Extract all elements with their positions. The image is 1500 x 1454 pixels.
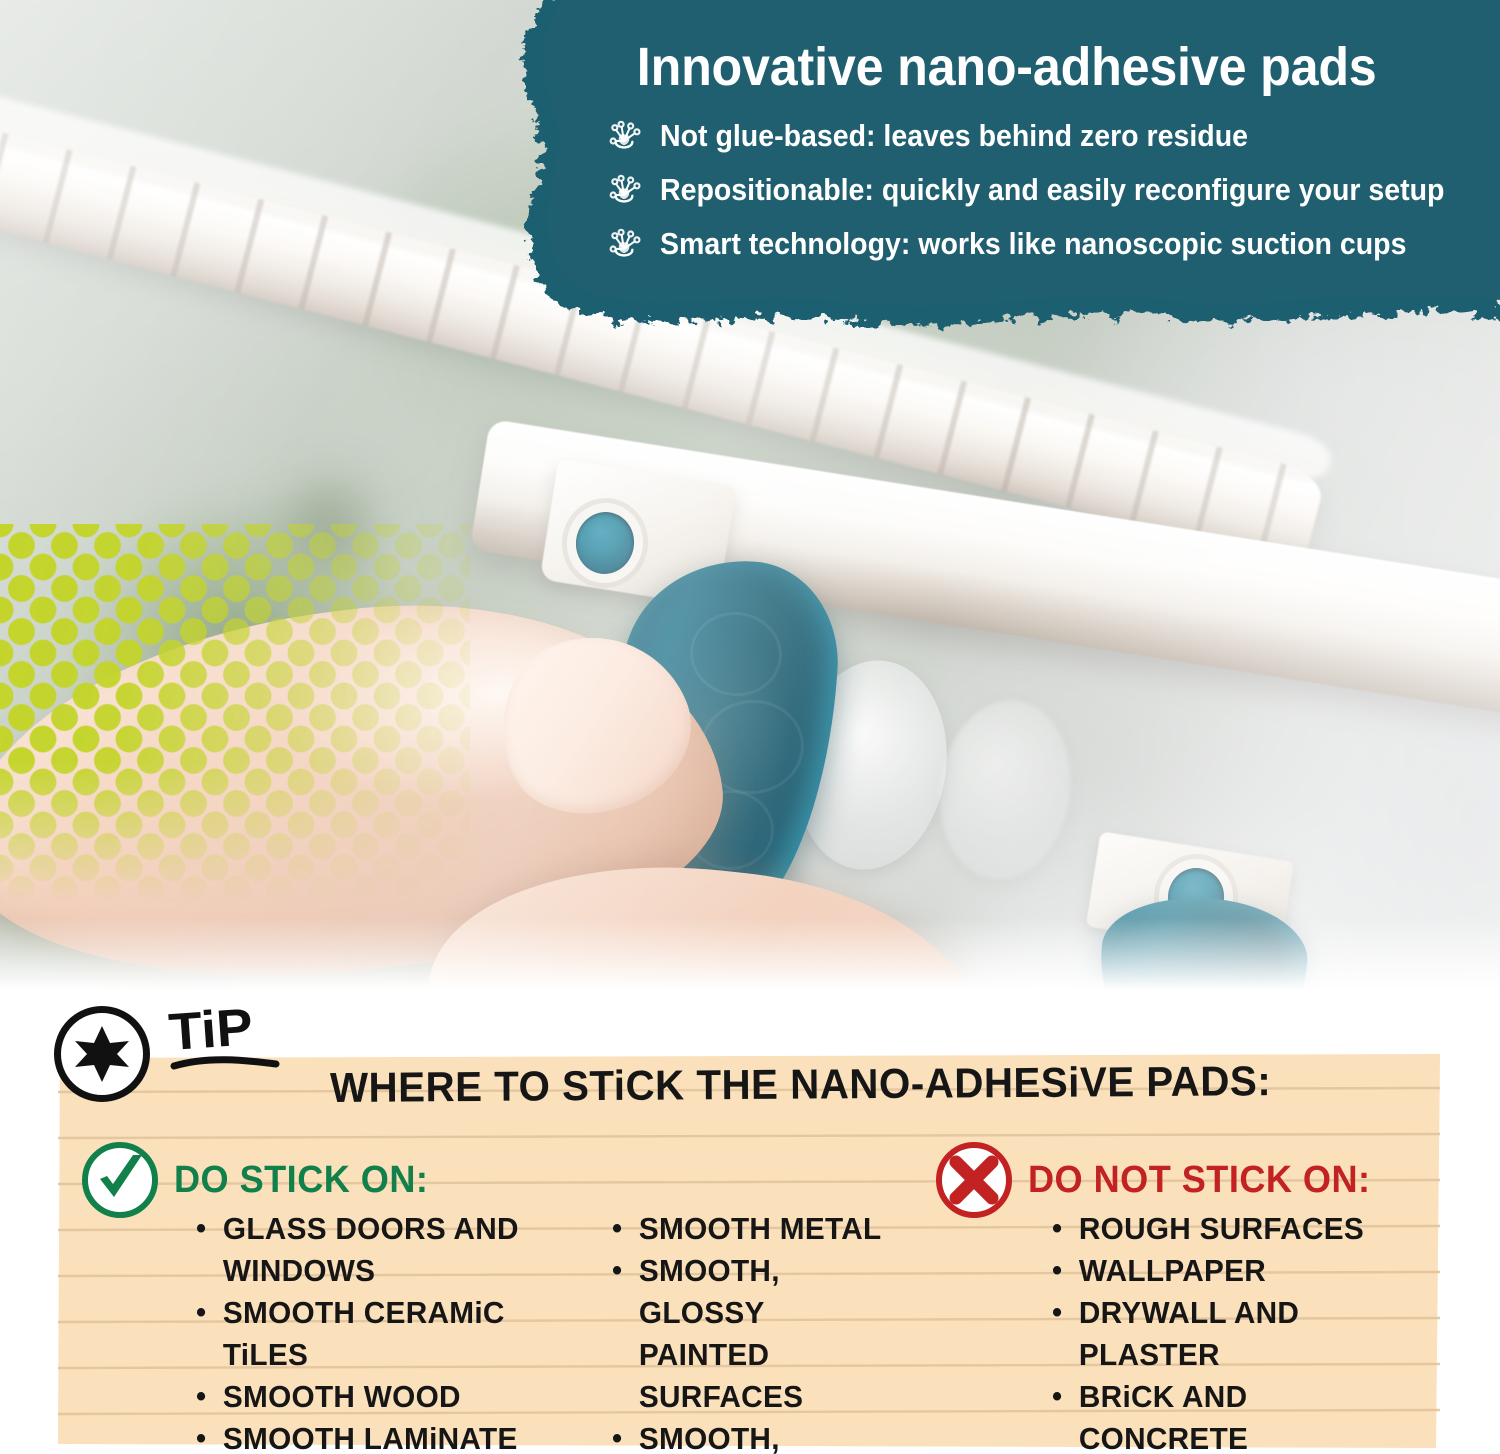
tip-badge <box>54 1006 150 1102</box>
feature-bullet: Repositionable: quickly and easily recon… <box>604 170 1500 210</box>
feature-bullet-label: Repositionable: quickly and easily recon… <box>660 172 1444 208</box>
feature-bullet-label: Not glue-based: leaves behind zero resid… <box>660 118 1248 154</box>
list-item: ROUGH SURFACES <box>1052 1208 1417 1250</box>
photo-bottom-fade <box>0 918 1500 1010</box>
gecko-foot-icon <box>604 224 644 264</box>
gecko-foot-icon <box>604 170 644 210</box>
list-item: DRYWALL AND PLASTER <box>1052 1292 1417 1376</box>
do-stick-header: DO STICK ON: <box>82 1142 442 1218</box>
cross-mark-badge <box>936 1142 1012 1218</box>
banner-content: Innovative nano-adhesive pads <box>452 0 1500 278</box>
tip-label-wrapper: TiP <box>168 1004 288 1076</box>
do-stick-list-column-2: SMOOTH METAL SMOOTH, GLOSSY PAINTED SURF… <box>612 1208 912 1454</box>
do-not-stick-header: DO NOT STICK ON: <box>936 1142 1389 1218</box>
list-item: BRiCK AND CONCRETE <box>1052 1376 1417 1454</box>
do-stick-list-column-1: GLASS DOORS AND WINDOWS SMOOTH CERAMiC T… <box>196 1208 596 1454</box>
banner-title: Innovative nano-adhesive pads <box>489 0 1464 98</box>
product-infographic: Innovative nano-adhesive pads <box>0 0 1500 1454</box>
tip-heading: WHERE TO STiCK THE NANO-ADHESiVE PADS: <box>330 1058 1098 1112</box>
list-item: SMOOTH METAL <box>612 1208 900 1250</box>
list-item: SMOOTH, GLOSSY <box>612 1250 900 1334</box>
svg-text:TiP: TiP <box>168 1004 255 1062</box>
list-item: SMOOTH CERAMiC TiLES <box>196 1292 580 1376</box>
feature-bullet-list: Not glue-based: leaves behind zero resid… <box>604 116 1500 264</box>
list-item: SMOOTH LAMiNATE <box>196 1418 580 1454</box>
list-item: SMOOTH WOOD <box>196 1376 580 1418</box>
do-stick-label: DO STICK ON: <box>174 1159 428 1202</box>
list-item: GLASS DOORS AND WINDOWS <box>196 1208 580 1292</box>
check-mark-badge <box>82 1142 158 1218</box>
check-mark-icon <box>91 1151 149 1209</box>
six-point-star-icon <box>72 1024 132 1084</box>
feature-bullet: Smart technology: works like nanoscopic … <box>604 224 1500 264</box>
cross-mark-icon <box>945 1151 1003 1209</box>
feature-bullet-label: Smart technology: works like nanoscopic … <box>660 226 1406 262</box>
list-item-continuation: PAINTED SURFACES <box>612 1334 900 1418</box>
list-item: WALLPAPER <box>1052 1250 1417 1292</box>
tip-label: TiP <box>168 1004 288 1076</box>
feature-banner: Innovative nano-adhesive pads <box>452 0 1500 358</box>
do-not-stick-label: DO NOT STICK ON: <box>1028 1159 1371 1202</box>
list-item: SMOOTH, POLiSHED <box>612 1418 900 1454</box>
halftone-mask <box>0 262 470 902</box>
gecko-foot-icon <box>604 116 644 156</box>
feature-bullet: Not glue-based: leaves behind zero resid… <box>604 116 1500 156</box>
do-not-stick-list: ROUGH SURFACES WALLPAPER DRYWALL AND PLA… <box>1052 1208 1432 1454</box>
